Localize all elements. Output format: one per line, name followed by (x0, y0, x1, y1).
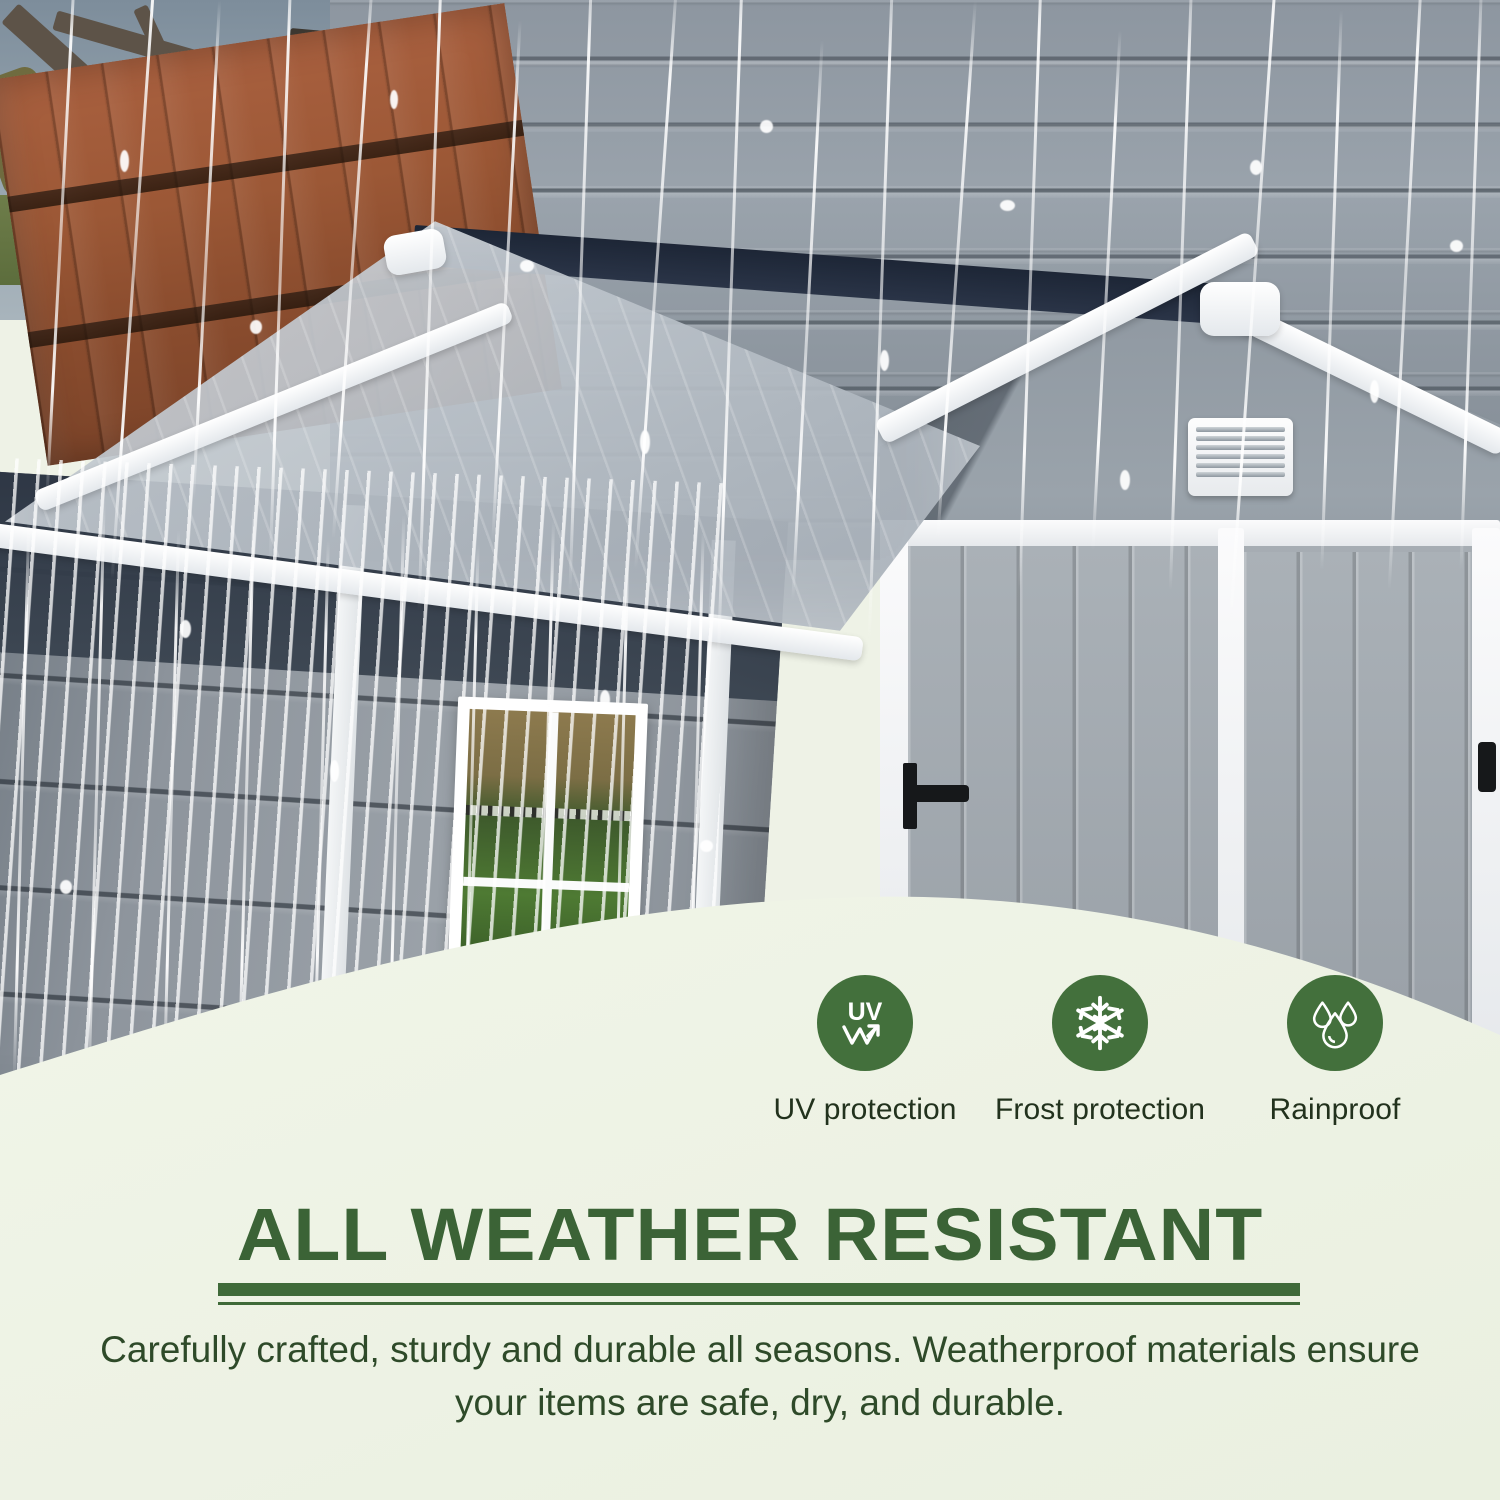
feature-label: Rainproof (1230, 1093, 1440, 1127)
louver-vent-icon (1188, 418, 1293, 496)
svg-text:UV: UV (848, 998, 883, 1026)
raindrops-icon (1287, 975, 1383, 1071)
divider-thick (218, 1283, 1300, 1296)
feature-label: UV protection (760, 1093, 970, 1127)
door-frame-right (1472, 528, 1500, 1060)
feature-rainproof: Rainproof (1230, 975, 1440, 1127)
snowflake-icon (1052, 975, 1148, 1071)
page-title: ALL WEATHER RESISTANT (0, 1192, 1500, 1277)
divider-thin (218, 1302, 1300, 1305)
feature-uv-protection: UV UV protection (760, 975, 970, 1127)
product-feature-banner: UV UV protection (0, 0, 1500, 1500)
divider (218, 1283, 1300, 1305)
feature-label: Frost protection (995, 1093, 1205, 1127)
roof-peak-cap (1200, 282, 1280, 336)
body-copy: Carefully crafted, sturdy and durable al… (80, 1324, 1440, 1429)
door-handle-right[interactable] (1478, 742, 1496, 792)
uv-protection-icon: UV (817, 975, 913, 1071)
door-frame-top (880, 520, 1500, 546)
door-handle[interactable] (903, 785, 969, 802)
feature-list: UV UV protection (760, 975, 1440, 1127)
feature-frost-protection: Frost protection (995, 975, 1205, 1127)
